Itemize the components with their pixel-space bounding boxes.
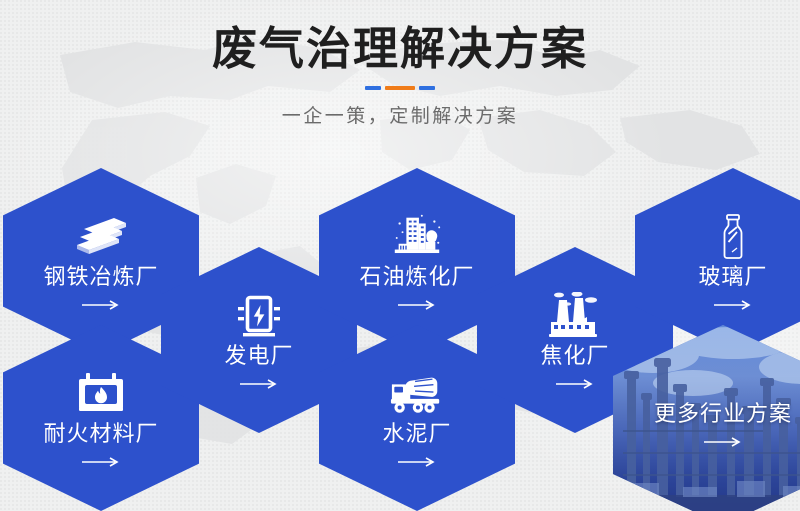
furnace-flame-icon [73,368,129,420]
divider-segment-left [365,86,381,90]
glass-bottle-icon [705,211,761,263]
refinery-plant-icon [389,211,445,263]
hex-label: 耐火材料厂 [43,422,158,446]
arrow-right-icon [79,456,123,468]
arrow-right-icon [395,299,439,311]
factory-smokestack-icon [547,290,603,342]
hex-label: 石油炼化厂 [359,265,474,289]
banner-stage: 废气治理解决方案 一企一策，定制解决方案 钢铁冶炼厂 [0,0,800,511]
page-subtitle: 一企一策，定制解决方案 [0,90,800,128]
arrow-right-icon [553,378,597,390]
cement-mixer-truck-icon [389,368,445,420]
arrow-right-icon [79,299,123,311]
banner-header: 废气治理解决方案 一企一策，定制解决方案 [0,0,800,128]
hex-label: 焦化厂 [540,344,609,368]
arrow-right-icon [237,378,281,390]
divider-segment-right [419,86,435,90]
arrow-right-icon [711,299,755,311]
hex-label: 钢铁冶炼厂 [43,265,158,289]
hex-label: 更多行业方案 [654,402,792,426]
hex-label: 发电厂 [224,344,293,368]
hex-label: 玻璃厂 [698,265,767,289]
hex-label: 水泥厂 [382,422,451,446]
arrow-right-icon [701,436,745,448]
arrow-right-icon [395,456,439,468]
divider-segment-middle [385,86,415,90]
steel-beam-icon [73,211,129,263]
page-title: 废气治理解决方案 [0,0,800,75]
power-bolt-icon [231,290,287,342]
